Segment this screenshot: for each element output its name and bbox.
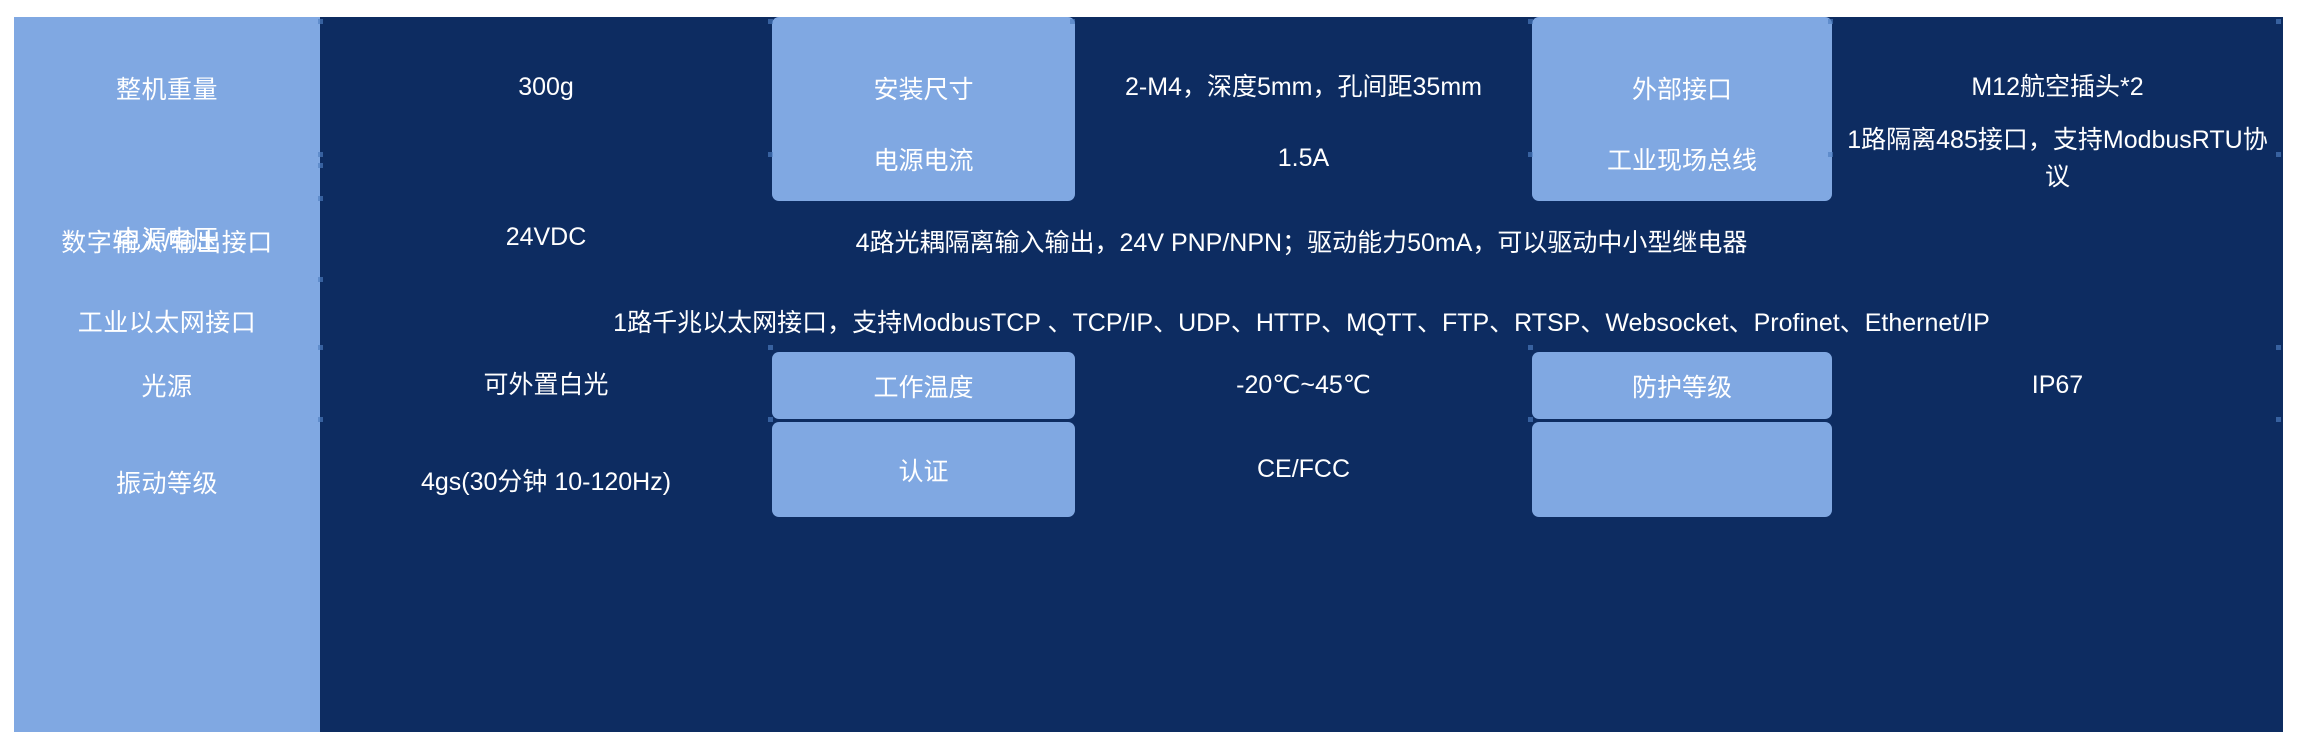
pill-working-temperature[interactable]: 工作温度 [772,352,1075,419]
value-whole-machine-weight: 300g [320,17,772,158]
value-protection-rating: IP67 [1832,352,2283,419]
pill-industrial-fieldbus[interactable]: 工业现场总线 [1532,116,1832,201]
value-light-source: 可外置白光 [320,348,772,422]
specification-table: 整机重量 300g 安装尺寸 2-M4，深度5mm，孔间距35mm 外部接口 M… [0,0,2300,732]
pill-protection-rating[interactable]: 防护等级 [1532,352,1832,419]
pill-certification[interactable]: 认证 [772,422,1075,517]
value-power-current: 1.5A [1075,116,1532,201]
row-label-whole-machine-weight: 整机重量 [14,17,320,158]
pill-power-current[interactable]: 电源电流 [772,116,1075,201]
value-certification: CE/FCC [1075,422,1532,517]
value-digital-io-interface: 4路光耦隔离输入输出，24V PNP/NPN；驱动能力50mA，可以驱动中小型继… [320,201,2283,281]
value-industrial-fieldbus: 1路隔离485接口，支持ModbusRTU协议 [1832,116,2283,201]
row-label-light-source: 光源 [14,348,320,422]
value-vibration-rating: 4gs(30分钟 10-120Hz) [320,422,772,542]
row-label-digital-io-interface: 数字输入/输出接口 [14,201,320,281]
pill-row6-empty[interactable] [1532,422,1832,517]
value-working-temperature: -20℃~45℃ [1075,352,1532,419]
row-label-vibration-rating: 振动等级 [14,422,320,542]
value-row6-empty [1832,422,2283,517]
